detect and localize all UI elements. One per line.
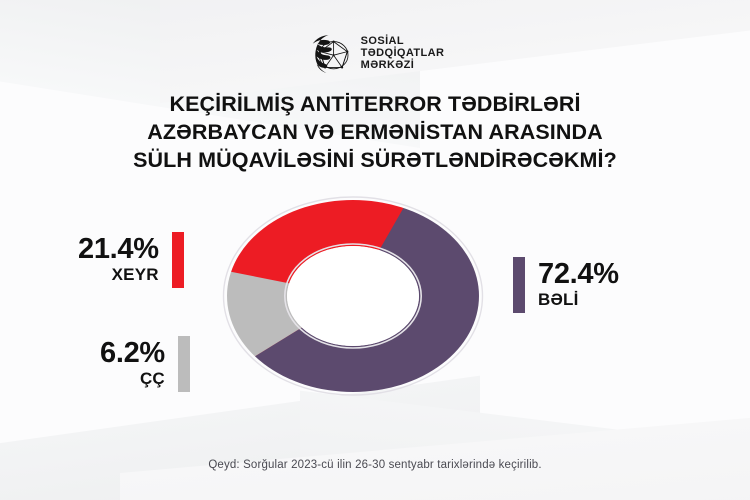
callout-beli-percent: 72.4%: [538, 260, 619, 289]
callout-cc-color-swatch: [178, 336, 190, 392]
brand-name-line-3: MƏRKƏZİ: [361, 59, 445, 71]
brand-name-line-1: SOSİAL: [361, 35, 445, 47]
page-title-line-1: KEÇİRİLMİŞ ANTİTERROR TƏDBİRLƏRİ: [0, 90, 750, 118]
brand-header: SOSİAL TƏDQİQATLAR MƏRKƏZİ: [0, 32, 750, 74]
decorative-band-bottom-right: [300, 391, 750, 500]
callout-cc-label: ÇÇ: [140, 368, 165, 390]
brand-name: SOSİAL TƏDQİQATLAR MƏRKƏZİ: [361, 35, 445, 72]
page-title-line-2: AZƏRBAYCAN VƏ ERMƏNİSTAN ARASINDA: [0, 118, 750, 146]
callout-beli-color-swatch: [513, 257, 525, 313]
donut-chart-svg: [222, 196, 484, 396]
callout-beli-label: BƏLİ: [538, 289, 579, 311]
infographic-canvas: SOSİAL TƏDQİQATLAR MƏRKƏZİ KEÇİRİLMİŞ AN…: [0, 0, 750, 500]
callout-cc-percent: 6.2%: [100, 339, 165, 368]
donut-center-hole: [287, 246, 419, 346]
page-title-line-3: SÜLH MÜQAVİLƏSİNİ SÜRƏTLƏNDİRƏCƏKMİ?: [0, 146, 750, 174]
callout-beli: 72.4% BƏLİ: [513, 257, 619, 313]
callout-xeyr: 21.4% XEYR: [78, 232, 184, 288]
callout-beli-text: 72.4% BƏLİ: [538, 260, 619, 311]
callout-xeyr-text: 21.4% XEYR: [78, 235, 159, 286]
page-title: KEÇİRİLMİŞ ANTİTERROR TƏDBİRLƏRİ AZƏRBAY…: [0, 90, 750, 174]
callout-xeyr-percent: 21.4%: [78, 235, 159, 264]
callout-xeyr-color-swatch: [172, 232, 184, 288]
footnote-note: Qeyd: Sorğular 2023-cü ilin 26-30 sentya…: [0, 459, 750, 471]
donut-chart: [222, 196, 484, 396]
callout-xeyr-label: XEYR: [112, 264, 159, 286]
globe-swirl-logo-icon: [306, 32, 352, 74]
brand-name-line-2: TƏDQİQATLAR: [361, 47, 445, 59]
callout-cc-text: 6.2% ÇÇ: [100, 339, 165, 390]
callout-cc: 6.2% ÇÇ: [100, 336, 190, 392]
